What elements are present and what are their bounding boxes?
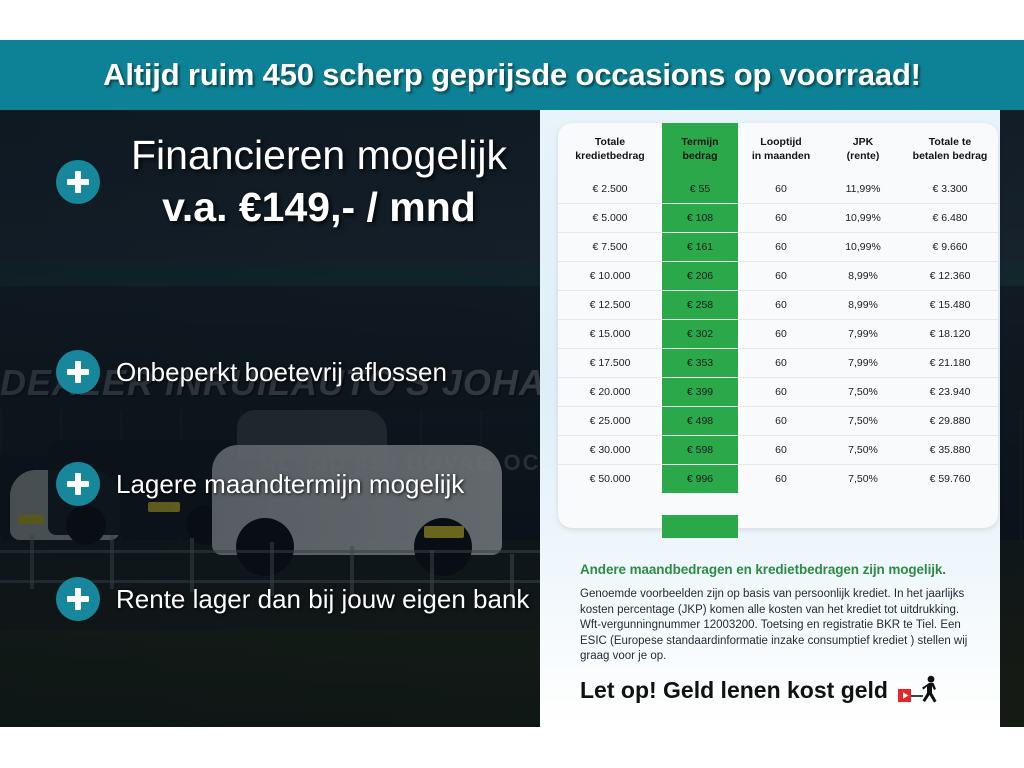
features-column: Financieren mogelijk v.a. €149,- / mnd O… (0, 110, 540, 727)
table-row: € 15.000€ 302607,99%€ 18.120 (558, 320, 998, 349)
plus-icon (56, 462, 100, 506)
table-cell: 7,50% (824, 378, 902, 407)
cell-termijnbedrag: € 598 (662, 436, 738, 465)
col-header-totale-te-betalen: Totale te betalen bedrag (902, 123, 998, 175)
table-cell: 60 (738, 465, 824, 494)
table-cell: € 15.480 (902, 291, 998, 320)
table-cell: € 30.000 (558, 436, 662, 465)
table-cell: € 9.660 (902, 233, 998, 262)
credit-warning-text: Let op! Geld lenen kost geld (580, 677, 888, 704)
table-cell: 7,50% (824, 465, 902, 494)
table-cell: € 3.300 (902, 175, 998, 204)
rates-table-card: Totale kredietbedrag Termijn bedrag Loop… (558, 123, 998, 528)
table-cell: 60 (738, 204, 824, 233)
cell-termijnbedrag: € 258 (662, 291, 738, 320)
table-row: € 20.000€ 399607,50%€ 23.940 (558, 378, 998, 407)
table-cell: 7,50% (824, 407, 902, 436)
table-cell: € 59.760 (902, 465, 998, 494)
table-cell: 10,99% (824, 233, 902, 262)
table-row: € 12.500€ 258608,99%€ 15.480 (558, 291, 998, 320)
col-header-looptijd: Looptijd in maanden (738, 123, 824, 175)
table-cell: € 21.180 (902, 349, 998, 378)
financing-info-panel: Totale kredietbedrag Termijn bedrag Loop… (540, 110, 1000, 727)
table-row: € 5.000€ 1086010,99%€ 6.480 (558, 204, 998, 233)
note-body: Genoemde voorbeelden zijn op basis van p… (580, 587, 970, 665)
table-cell: 7,50% (824, 436, 902, 465)
note-title: Andere maandbedragen en kredietbedragen … (580, 562, 980, 577)
banner-headline: Altijd ruim 450 scherp geprijsde occasio… (103, 57, 921, 93)
cell-termijnbedrag: € 399 (662, 378, 738, 407)
col-header-kredietbedrag: Totale kredietbedrag (558, 123, 662, 175)
poster-canvas: Altijd ruim 450 scherp geprijsde occasio… (0, 0, 1024, 768)
financing-headline: Financieren mogelijk v.a. €149,- / mnd (104, 130, 534, 234)
rates-table-head: Totale kredietbedrag Termijn bedrag Loop… (558, 123, 998, 175)
cell-termijnbedrag: € 206 (662, 262, 738, 291)
cell-termijnbedrag: € 108 (662, 204, 738, 233)
feature-label: Rente lager dan bij jouw eigen bank (116, 584, 529, 615)
table-cell: 11,99% (824, 175, 902, 204)
table-cell: 60 (738, 349, 824, 378)
highlight-column-bleed (662, 515, 738, 538)
feature-item-2: Rente lager dan bij jouw eigen bank (56, 577, 529, 621)
plus-icon (56, 160, 100, 204)
feature-item-1: Lagere maandtermijn mogelijk (56, 462, 464, 506)
table-header-row: Totale kredietbedrag Termijn bedrag Loop… (558, 123, 998, 175)
cell-termijnbedrag: € 161 (662, 233, 738, 262)
feature-label: Lagere maandtermijn mogelijk (116, 469, 464, 500)
cell-termijnbedrag: € 996 (662, 465, 738, 494)
table-cell: 60 (738, 407, 824, 436)
table-cell: € 6.480 (902, 204, 998, 233)
rates-table: Totale kredietbedrag Termijn bedrag Loop… (558, 123, 998, 493)
table-cell: € 17.500 (558, 349, 662, 378)
table-row: € 7.500€ 1616010,99%€ 9.660 (558, 233, 998, 262)
plus-icon (56, 350, 100, 394)
table-cell: 7,99% (824, 320, 902, 349)
plus-icon (56, 577, 100, 621)
table-cell: 60 (738, 378, 824, 407)
table-cell: 60 (738, 233, 824, 262)
person-pulling-debt-block-icon (898, 675, 942, 705)
table-cell: 60 (738, 175, 824, 204)
table-cell: € 35.880 (902, 436, 998, 465)
table-row: € 17.500€ 353607,99%€ 21.180 (558, 349, 998, 378)
feature-item-0: Onbeperkt boetevrij aflossen (56, 350, 447, 394)
headline-line-2: v.a. €149,- / mnd (104, 180, 534, 234)
col-header-termijnbedrag: Termijn bedrag (662, 123, 738, 175)
table-cell: € 10.000 (558, 262, 662, 291)
table-cell: € 5.000 (558, 204, 662, 233)
cell-termijnbedrag: € 353 (662, 349, 738, 378)
table-cell: € 29.880 (902, 407, 998, 436)
table-cell: € 15.000 (558, 320, 662, 349)
cell-termijnbedrag: € 498 (662, 407, 738, 436)
table-cell: 60 (738, 262, 824, 291)
table-cell: € 12.360 (902, 262, 998, 291)
table-cell: € 25.000 (558, 407, 662, 436)
col-header-jpk: JPK (rente) (824, 123, 902, 175)
table-cell: 8,99% (824, 291, 902, 320)
table-cell: 10,99% (824, 204, 902, 233)
feature-label: Onbeperkt boetevrij aflossen (116, 357, 447, 388)
table-row: € 50.000€ 996607,50%€ 59.760 (558, 465, 998, 494)
table-cell: € 12.500 (558, 291, 662, 320)
top-banner: Altijd ruim 450 scherp geprijsde occasio… (0, 40, 1024, 110)
table-cell: € 23.940 (902, 378, 998, 407)
headline-line-1: Financieren mogelijk (104, 130, 534, 180)
cell-termijnbedrag: € 55 (662, 175, 738, 204)
table-cell: € 20.000 (558, 378, 662, 407)
rates-table-body: € 2.500€ 556011,99%€ 3.300€ 5.000€ 10860… (558, 175, 998, 493)
table-cell: 8,99% (824, 262, 902, 291)
table-row: € 10.000€ 206608,99%€ 12.360 (558, 262, 998, 291)
cell-termijnbedrag: € 302 (662, 320, 738, 349)
credit-warning: Let op! Geld lenen kost geld (580, 675, 942, 705)
table-cell: 60 (738, 436, 824, 465)
table-row: € 25.000€ 498607,50%€ 29.880 (558, 407, 998, 436)
table-cell: 60 (738, 320, 824, 349)
table-cell: € 18.120 (902, 320, 998, 349)
table-row: € 2.500€ 556011,99%€ 3.300 (558, 175, 998, 204)
table-cell: 7,99% (824, 349, 902, 378)
table-row: € 30.000€ 598607,50%€ 35.880 (558, 436, 998, 465)
table-cell: 60 (738, 291, 824, 320)
table-cell: € 2.500 (558, 175, 662, 204)
table-cell: € 7.500 (558, 233, 662, 262)
table-cell: € 50.000 (558, 465, 662, 494)
